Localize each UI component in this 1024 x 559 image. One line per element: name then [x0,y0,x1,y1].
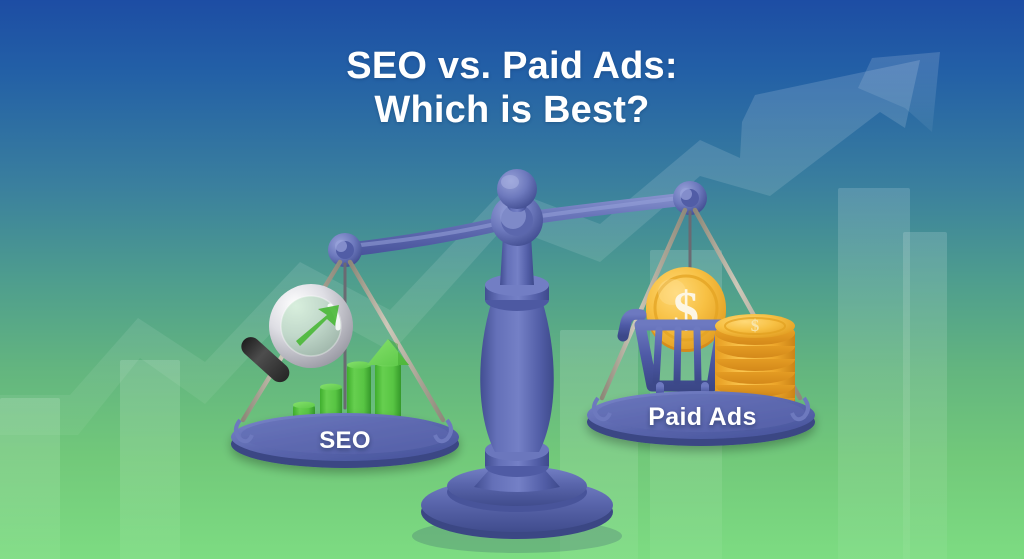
right-pan-label: Paid Ads [585,403,820,432]
scale-stand [412,218,622,553]
right-pivot-knob [673,181,707,215]
left-pivot-knob [328,233,362,267]
svg-text:$: $ [751,316,760,335]
hero-graphic: SEO vs. Paid Ads: Which is Best? [0,0,1024,559]
left-pan-label: SEO [230,427,460,455]
scale-hub [491,169,543,246]
magnifying-glass-icon [237,284,353,386]
balance-scale-illustration: $ [0,0,1024,559]
scale-top-ball-icon [497,169,537,209]
